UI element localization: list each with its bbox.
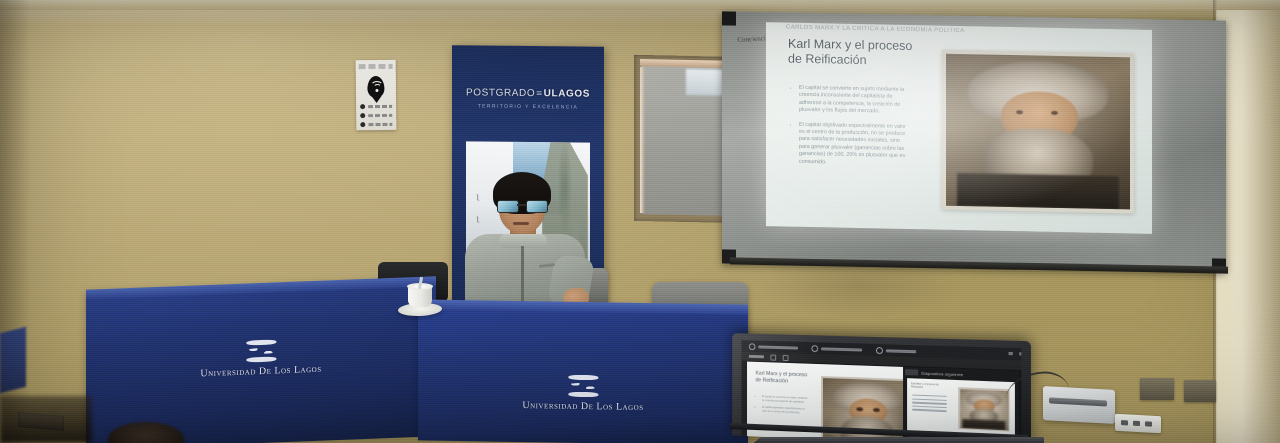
browser-tab-1[interactable] — [749, 343, 798, 351]
wifi-pin-icon — [367, 76, 384, 98]
window-edge-light — [640, 67, 645, 213]
tab-label — [886, 349, 916, 353]
power-socket-3[interactable] — [1145, 421, 1152, 426]
marx-portrait-image-thumb — [960, 389, 1008, 430]
wifi-text-line — [368, 114, 392, 117]
aux-device[interactable] — [1043, 386, 1115, 424]
ceiling-strip — [0, 0, 1280, 10]
minimize-icon[interactable] — [1009, 352, 1013, 355]
power-socket-1[interactable] — [1121, 420, 1128, 425]
banner-logo-postgrado: POSTGRADO — [466, 87, 535, 99]
banner-logo-separator: ≡ — [536, 89, 542, 97]
laptop-slide-bullet: El capital se convierte en sujeto median… — [762, 395, 809, 404]
wifi-text-line — [368, 123, 392, 126]
text-line — [912, 405, 947, 408]
ribbon-icon-2[interactable] — [783, 354, 789, 360]
portrait-eye-left — [1016, 110, 1023, 114]
tablecloth-text-left: Universidad De Los Lagos — [200, 364, 321, 380]
laptop-keyboard-base[interactable] — [751, 437, 1044, 443]
tablecloth-logo-left: Universidad De Los Lagos — [200, 338, 321, 380]
power-strip[interactable] — [1115, 414, 1161, 433]
ribbon-icon-1[interactable] — [770, 354, 776, 360]
glasses-bridge — [517, 204, 526, 206]
laptop-slide-bullet: El capital objetivado espectralmente en … — [762, 406, 809, 415]
list-item — [360, 122, 392, 127]
seated-person — [455, 172, 595, 312]
ulagos-wave-icon — [522, 374, 643, 398]
tab-icon — [811, 345, 818, 352]
bullet-icon — [360, 104, 365, 109]
ulagos-wave-icon — [200, 338, 321, 365]
list-item — [360, 104, 392, 109]
next-slide-preview[interactable]: Karl Marx y el proceso de Reificación — [907, 378, 1015, 436]
wifi-dot-icon — [375, 88, 378, 91]
table-left: Universidad De Los Lagos — [86, 281, 436, 443]
tablecloth-text-right: Universidad De Los Lagos — [522, 400, 643, 413]
banner-logo: POSTGRADO≡ULAGOS — [452, 87, 604, 100]
banner-tagline: TERRITORIO Y EXCELENCIA — [452, 103, 604, 111]
maximize-icon[interactable] — [1019, 352, 1021, 355]
marx-portrait-image — [946, 54, 1130, 210]
room-photo: Conciencia / inclusa CARLOS MARX Y LA CR… — [0, 0, 1280, 443]
text-line — [912, 402, 947, 405]
tab-label — [758, 345, 798, 349]
tab-icon — [749, 343, 756, 350]
glasses-lens-right — [526, 200, 548, 213]
text-line — [912, 398, 947, 401]
person-jacket-zipper — [521, 246, 524, 308]
slide-bullets: El capital se convierte en sujeto median… — [790, 85, 912, 176]
glasses-icon — [497, 200, 547, 211]
browser-tab-3[interactable] — [876, 347, 916, 355]
browser-tab-2[interactable] — [811, 345, 862, 353]
list-item — [360, 113, 392, 118]
wave-mid — [246, 347, 276, 354]
wifi-info-sign — [356, 60, 397, 130]
power-socket-2[interactable] — [1133, 421, 1140, 426]
laptop-slide-bullets: El capital se convierte en sujeto median… — [757, 395, 808, 419]
slide-image-frame — [942, 50, 1134, 214]
portrait-torso — [963, 419, 1005, 430]
wave-top — [568, 375, 598, 380]
laptop: Karl Marx y el proceso de Reificación El… — [726, 337, 1044, 443]
wave-top — [246, 339, 276, 345]
banner-logo-ulagos: ULAGOS — [544, 88, 590, 99]
slide-title: Karl Marx y el proceso de Reificación — [788, 37, 918, 70]
slide-bullet: El capital se convierte en sujeto median… — [799, 85, 912, 117]
slide-bullet: El capital objetivado espectralmente en … — [799, 121, 912, 168]
next-slide-image — [958, 387, 1009, 431]
wall-plate-left[interactable] — [1140, 378, 1174, 400]
bullet-icon — [360, 122, 365, 127]
wifi-sign-rows — [360, 104, 392, 130]
foreground-blue-cloth — [0, 327, 26, 393]
wifi-text-line — [368, 105, 392, 108]
tab-icon — [876, 347, 883, 354]
tab-label — [821, 347, 862, 351]
wave-bottom — [246, 356, 276, 362]
ribbon-item-home[interactable] — [749, 355, 764, 358]
portrait-torso — [957, 173, 1119, 210]
wave-mid — [568, 383, 598, 389]
wifi-sign-header — [359, 64, 393, 69]
foreground-shadow — [0, 396, 92, 443]
portrait-eye-right — [1051, 111, 1058, 115]
wall-plate-right[interactable] — [1184, 380, 1216, 402]
aux-device-panel — [1049, 397, 1107, 406]
window-controls[interactable] — [1009, 352, 1022, 356]
next-slide-title: Karl Marx y el proceso de Reificación — [911, 382, 942, 389]
wave-bottom — [568, 392, 598, 397]
text-line — [912, 409, 947, 412]
laptop-slide-title: Karl Marx y el proceso de Reificación — [755, 371, 810, 387]
table-right: Universidad De Los Lagos — [418, 304, 748, 443]
projected-slide: CARLOS MARX Y LA CRITICA A LA ECONOMIA P… — [766, 22, 1152, 234]
text-line — [912, 394, 947, 397]
glasses-lens-left — [497, 200, 519, 213]
bullet-icon — [360, 113, 365, 118]
next-slide-label: Diapositiva siguiente — [921, 371, 963, 378]
whiteboard-corner-tl — [722, 11, 736, 25]
next-slide-text-lines — [912, 394, 947, 414]
tablecloth-logo-right: Universidad De Los Lagos — [522, 374, 643, 413]
person-mouth — [513, 222, 529, 225]
slide-counter-badge — [905, 369, 918, 376]
